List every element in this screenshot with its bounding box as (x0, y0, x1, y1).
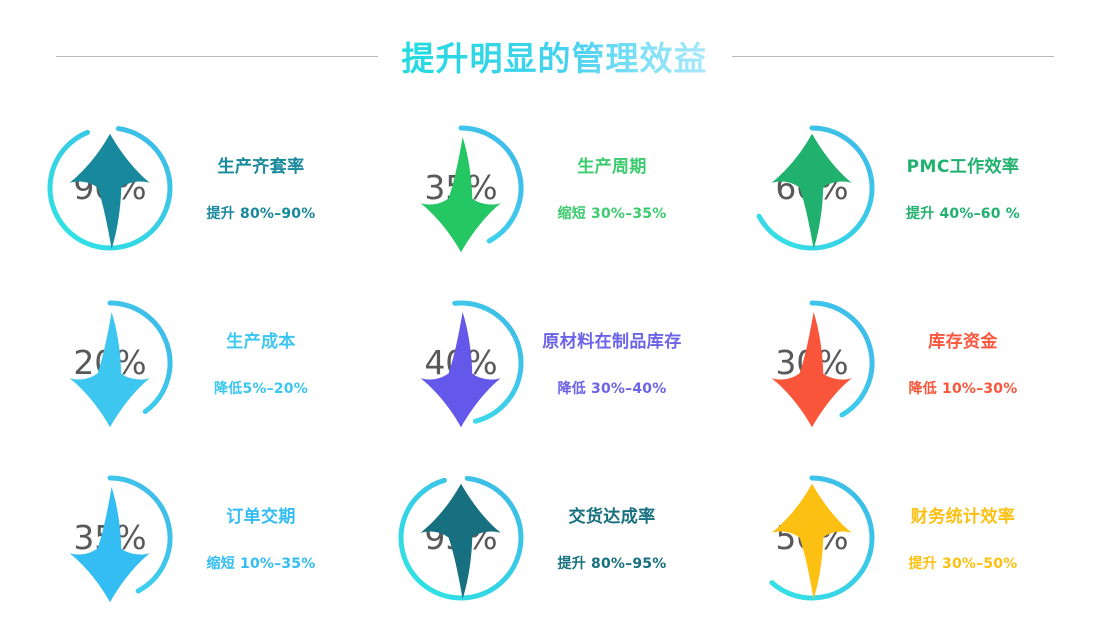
gauge-title-inventory-capital: 库存资金 (928, 327, 998, 352)
gauge-title-financial-statistics-efficiency: 财务统计效率 (911, 502, 1015, 527)
gauge-ring-production-kitting-rate: 90% (40, 118, 180, 258)
gauge-card-production-kitting-rate: 90% 生产齐套率 提升 80%–90% (28, 100, 379, 275)
gauge-card-order-delivery-time: 35% 订单交期 缩短 10%–35% (28, 450, 379, 625)
gauge-arc (461, 128, 521, 241)
gauge-ring-raw-material-wip-inventory: 40% (391, 293, 531, 433)
gauge-text-financial-statistics-efficiency: 财务统计效率 提升 30%–50% (888, 502, 1038, 573)
gauge-subtitle-inventory-capital: 降低 10%–30% (909, 378, 1018, 398)
gauge-ring-financial-statistics-efficiency: 50% (742, 468, 882, 608)
page-header: 提升明显的管理效益 (0, 0, 1109, 100)
header-rule-right (732, 56, 1054, 57)
gauge-title-order-delivery-time: 订单交期 (226, 502, 296, 527)
gauge-subtitle-production-kitting-rate: 提升 80%–90% (207, 203, 316, 223)
gauge-title-production-kitting-rate: 生产齐套率 (218, 152, 305, 177)
gauge-subtitle-production-cost: 降低5%–20% (214, 378, 308, 398)
gauge-text-raw-material-wip-inventory: 原材料在制品库存 降低 30%–40% (537, 327, 687, 398)
gauge-grid: 90% 生产齐套率 提升 80%–90% 35% (0, 100, 1109, 625)
gauge-card-delivery-achievement-rate: 95% 交货达成率 提升 80%–95% (379, 450, 730, 625)
gauge-text-delivery-achievement-rate: 交货达成率 提升 80%–95% (537, 502, 687, 573)
gauge-text-order-delivery-time: 订单交期 缩短 10%–35% (186, 502, 336, 573)
gauge-arc (401, 478, 521, 598)
gauge-text-production-cycle: 生产周期 缩短 30%–35% (537, 152, 687, 223)
gauge-ring-delivery-achievement-rate: 95% (391, 468, 531, 608)
gauge-card-inventory-capital: 30% 库存资金 降低 10%–30% (730, 275, 1081, 450)
gauge-ring-inventory-capital: 30% (742, 293, 882, 433)
gauge-ring-production-cost: 20% (40, 293, 180, 433)
gauge-arc (50, 128, 170, 247)
gauge-title-production-cycle: 生产周期 (577, 152, 647, 177)
gauge-title-production-cost: 生产成本 (226, 327, 296, 352)
gauge-arc (759, 128, 872, 248)
gauge-card-production-cost: 20% 生产成本 降低5%–20% (28, 275, 379, 450)
gauge-arc (110, 478, 170, 591)
gauge-text-production-kitting-rate: 生产齐套率 提升 80%–90% (186, 152, 336, 223)
gauge-arc (455, 303, 521, 421)
gauge-card-raw-material-wip-inventory: 40% 原材料在制品库存 降低 30%–40% (379, 275, 730, 450)
gauge-card-pmc-work-efficiency: 60% PMC工作效率 提升 40%–60 % (730, 100, 1081, 275)
gauge-text-production-cost: 生产成本 降低5%–20% (186, 327, 336, 398)
gauge-card-financial-statistics-efficiency: 50% 财务统计效率 提升 30%–50% (730, 450, 1081, 625)
page-title: 提升明显的管理效益 (402, 32, 708, 80)
gauge-card-production-cycle: 35% 生产周期 缩短 30%–35% (379, 100, 730, 275)
gauge-ring-production-cycle: 35% (391, 118, 531, 258)
gauge-arc (772, 478, 872, 598)
gauge-subtitle-production-cycle: 缩短 30%–35% (558, 203, 667, 223)
gauge-ring-order-delivery-time: 35% (40, 468, 180, 608)
header-rule-left (56, 56, 378, 57)
gauge-subtitle-delivery-achievement-rate: 提升 80%–95% (558, 553, 667, 573)
gauge-text-inventory-capital: 库存资金 降低 10%–30% (888, 327, 1038, 398)
gauge-text-pmc-work-efficiency: PMC工作效率 提升 40%–60 % (888, 152, 1038, 223)
gauge-ring-pmc-work-efficiency: 60% (742, 118, 882, 258)
gauge-title-delivery-achievement-rate: 交货达成率 (569, 502, 656, 527)
gauge-arc (812, 303, 872, 415)
gauge-subtitle-raw-material-wip-inventory: 降低 30%–40% (558, 378, 667, 398)
gauge-subtitle-pmc-work-efficiency: 提升 40%–60 % (906, 203, 1020, 223)
gauge-subtitle-order-delivery-time: 缩短 10%–35% (207, 553, 316, 573)
gauge-title-raw-material-wip-inventory: 原材料在制品库存 (542, 327, 681, 352)
gauge-arc (110, 303, 170, 412)
gauge-subtitle-financial-statistics-efficiency: 提升 30%–50% (909, 553, 1018, 573)
gauge-title-pmc-work-efficiency: PMC工作效率 (907, 152, 1020, 177)
